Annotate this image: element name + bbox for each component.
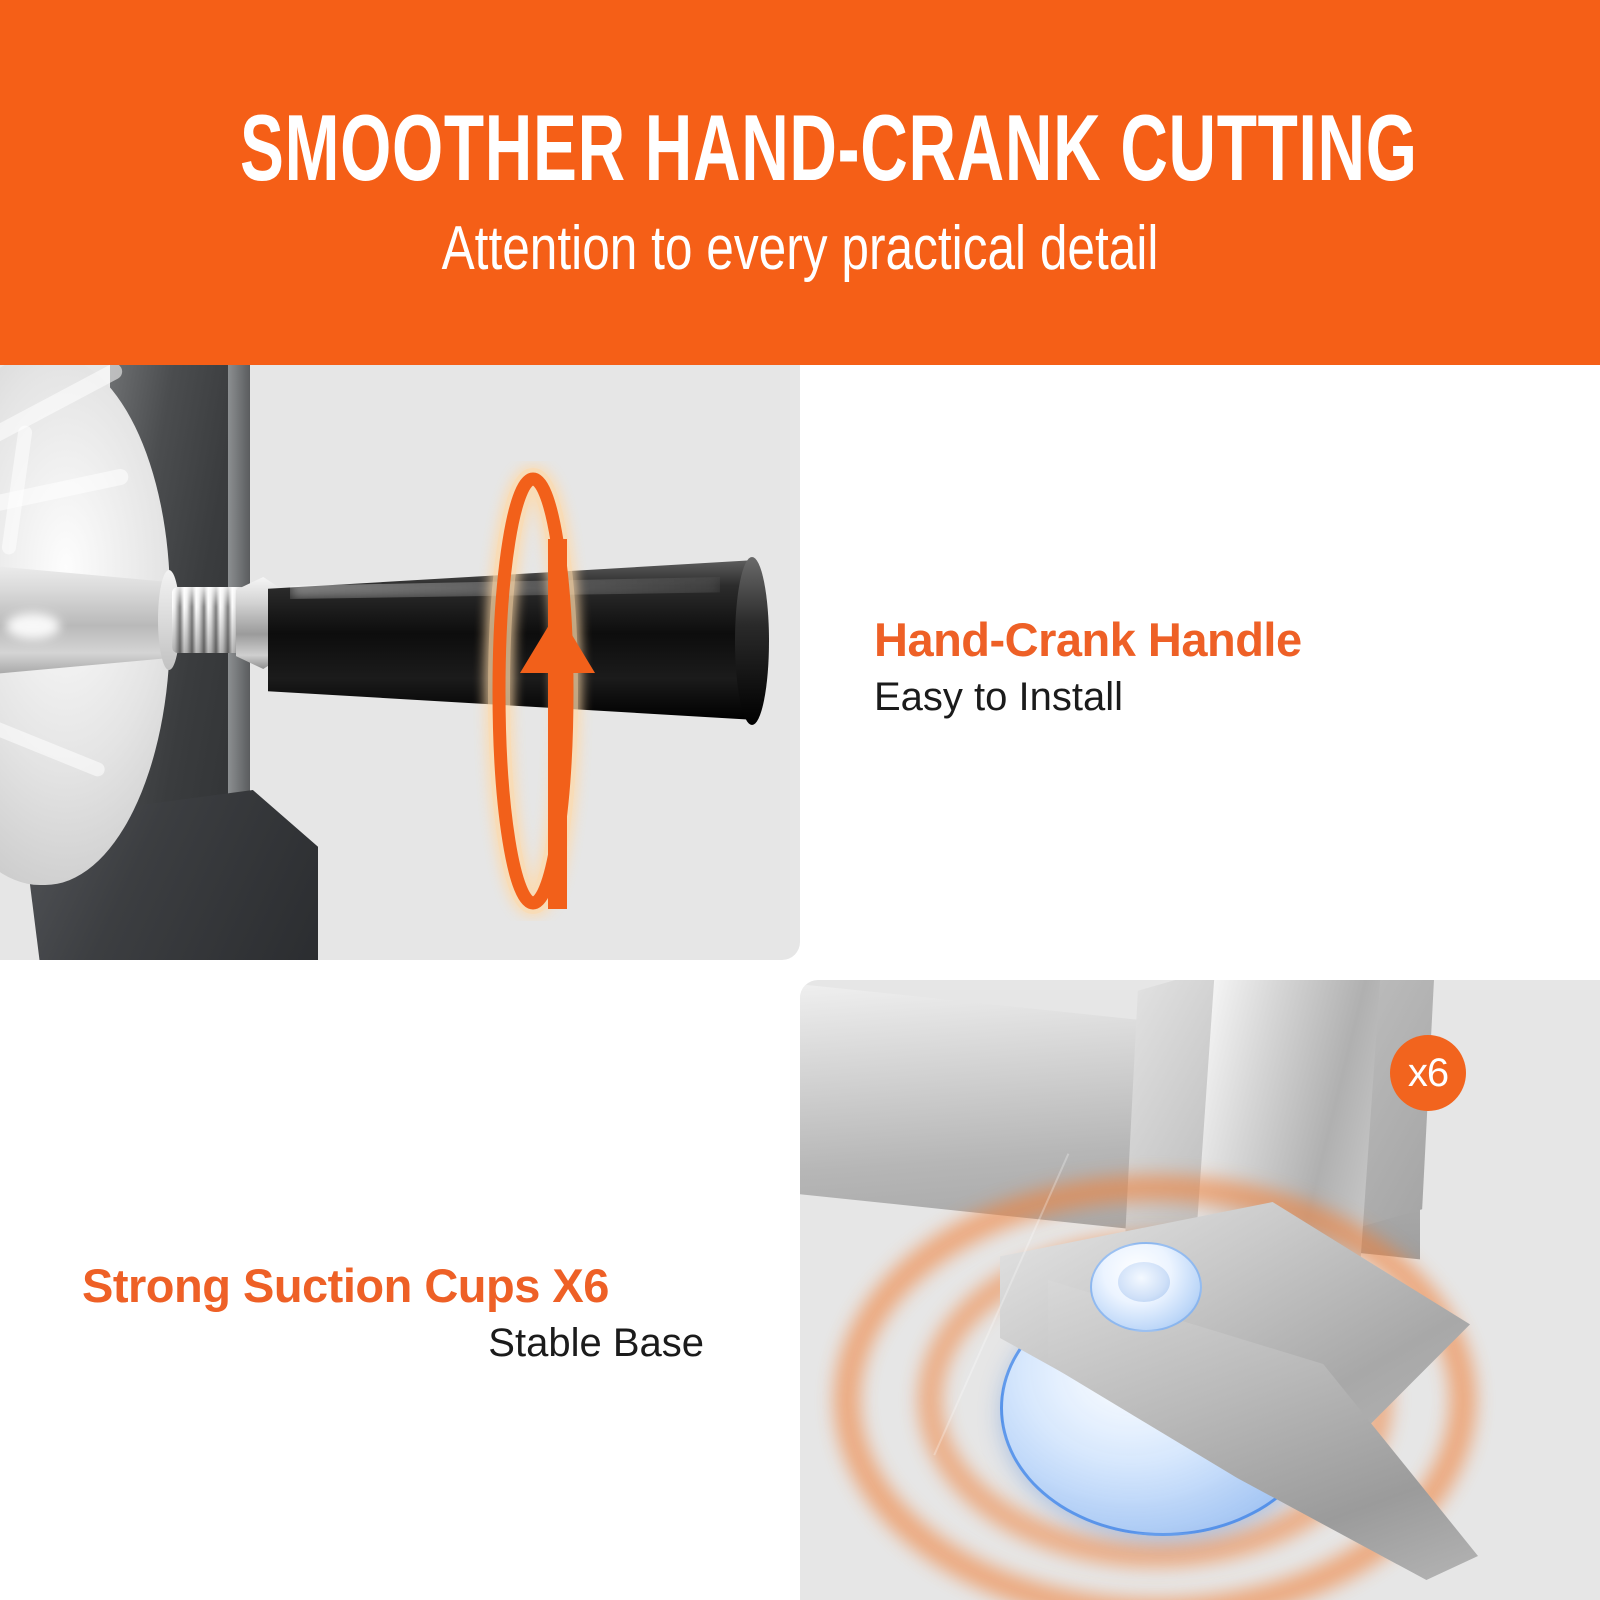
callout-title: Strong Suction Cups X6: [60, 1258, 760, 1314]
callout-strong-suction-cups: Strong Suction Cups X6 Stable Base: [60, 1258, 760, 1372]
callout-subtitle: Easy to Install: [874, 668, 1514, 726]
hand-crank-photo: [0, 365, 800, 960]
threaded-screw-shading: [172, 587, 246, 653]
page-title: SMOOTHER HAND-CRANK CUTTING: [240, 96, 1360, 200]
product-feature-page: SMOOTHER HAND-CRANK CUTTING Attention to…: [0, 0, 1600, 1600]
page-subtitle: Attention to every practical detail: [160, 212, 1440, 286]
feature-image-strong-suction-cups: [800, 980, 1600, 1600]
handle-end-cap: [735, 557, 769, 725]
callout-title: Hand-Crank Handle: [874, 612, 1514, 668]
status-badge-x6: x6: [1390, 1035, 1466, 1111]
hub-highlight: [6, 613, 60, 639]
header-banner: SMOOTHER HAND-CRANK CUTTING Attention to…: [0, 0, 1600, 365]
suction-cup-knob-inner: [1118, 1262, 1170, 1302]
rotation-arrow-icon: [462, 461, 662, 921]
callout-hand-crank-handle: Hand-Crank Handle Easy to Install: [874, 612, 1514, 726]
feature-image-hand-crank-handle: [0, 365, 800, 960]
callout-subtitle: Stable Base: [60, 1314, 760, 1372]
suction-cup-photo: [800, 980, 1600, 1600]
